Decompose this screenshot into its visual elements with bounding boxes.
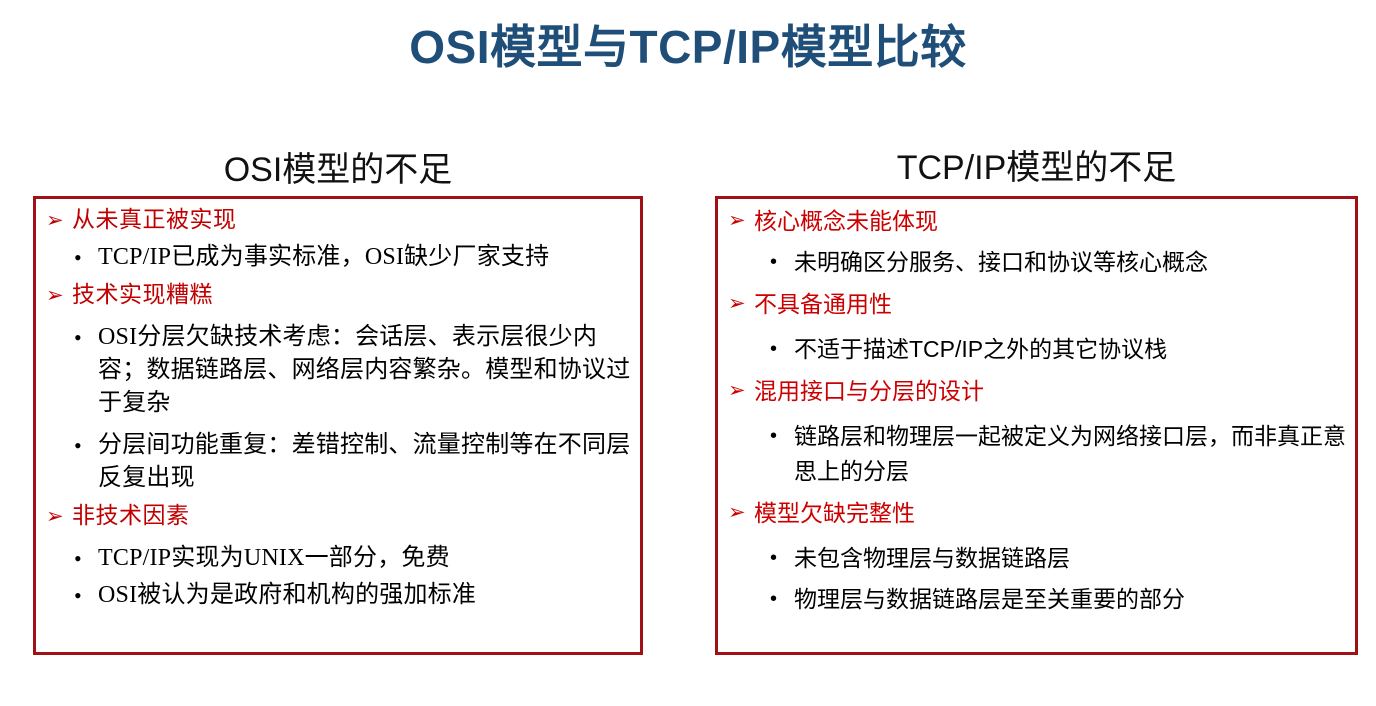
list-item-level2[interactable]: • TCP/IP实现为UNIX一部分，免费 <box>42 542 634 575</box>
list-item-text: 非技术因素 <box>72 499 634 533</box>
arrow-bullet-icon: ➢ <box>46 203 72 237</box>
spacer <box>42 420 634 429</box>
dot-bullet-icon: • <box>74 579 98 612</box>
list-item-text: 混用接口与分层的设计 <box>754 373 1349 409</box>
list-item-level2[interactable]: • 物理层与数据链路层是至关重要的部分 <box>724 582 1349 617</box>
list-item-level1[interactable]: ➢ 不具备通用性 <box>724 286 1349 322</box>
list-item-level1[interactable]: ➢ 模型欠缺完整性 <box>724 495 1349 531</box>
arrow-bullet-icon: ➢ <box>728 286 754 322</box>
bullet-list-osi: ➢ 从未真正被实现 • TCP/IP已成为事实标准，OSI缺少厂家支持 ➢ 技术… <box>36 199 640 652</box>
list-item-text: 模型欠缺完整性 <box>754 495 1349 531</box>
list-item-text: 不适于描述TCP/IP之外的其它协议栈 <box>794 332 1349 367</box>
list-item-text: 分层间功能重复：差错控制、流量控制等在不同层反复出现 <box>98 429 634 495</box>
list-item-level2[interactable]: • OSI被认为是政府和机构的强加标准 <box>42 579 634 612</box>
list-item-level1[interactable]: ➢ 非技术因素 <box>42 499 634 533</box>
arrow-bullet-icon: ➢ <box>728 373 754 409</box>
content-box-osi: ➢ 从未真正被实现 • TCP/IP已成为事实标准，OSI缺少厂家支持 ➢ 技术… <box>33 196 643 655</box>
list-item-level2[interactable]: • 未明确区分服务、接口和协议等核心概念 <box>724 245 1349 280</box>
list-item-level1[interactable]: ➢ 从未真正被实现 <box>42 203 634 237</box>
arrow-bullet-icon: ➢ <box>46 499 72 533</box>
spacer <box>42 312 634 321</box>
list-item-level2[interactable]: • OSI分层欠缺技术考虑：会话层、表示层很少内容；数据链路层、网络层内容繁杂。… <box>42 321 634 420</box>
list-item-text: 不具备通用性 <box>754 286 1349 322</box>
list-item-level2[interactable]: • TCP/IP已成为事实标准，OSI缺少厂家支持 <box>42 241 634 274</box>
spacer <box>724 322 1349 332</box>
list-item-text: 未明确区分服务、接口和协议等核心概念 <box>794 245 1349 280</box>
spacer <box>42 533 634 542</box>
dot-bullet-icon: • <box>74 429 98 462</box>
list-item-text: TCP/IP实现为UNIX一部分，免费 <box>98 542 634 575</box>
column-heading-tcpip: TCP/IP模型的不足 <box>715 146 1358 190</box>
list-item-text: OSI被认为是政府和机构的强加标准 <box>98 579 634 612</box>
list-item-level1[interactable]: ➢ 核心概念未能体现 <box>724 203 1349 239</box>
page-title: OSI模型与TCP/IP模型比较 <box>0 18 1376 76</box>
list-item-level1[interactable]: ➢ 混用接口与分层的设计 <box>724 373 1349 409</box>
content-box-tcpip: ➢ 核心概念未能体现 • 未明确区分服务、接口和协议等核心概念 ➢ 不具备通用性… <box>715 196 1358 655</box>
bullet-list-tcpip: ➢ 核心概念未能体现 • 未明确区分服务、接口和协议等核心概念 ➢ 不具备通用性… <box>718 199 1355 652</box>
list-item-text: 核心概念未能体现 <box>754 203 1349 239</box>
list-item-text: 物理层与数据链路层是至关重要的部分 <box>794 582 1349 617</box>
spacer <box>724 409 1349 419</box>
list-item-text: 链路层和物理层一起被定义为网络接口层，而非真正意思上的分层 <box>794 419 1349 489</box>
list-item-text: 未包含物理层与数据链路层 <box>794 541 1349 576</box>
list-item-text: OSI分层欠缺技术考虑：会话层、表示层很少内容；数据链路层、网络层内容繁杂。模型… <box>98 321 634 420</box>
dot-bullet-icon: • <box>770 541 794 576</box>
dot-bullet-icon: • <box>770 332 794 367</box>
list-item-level1[interactable]: ➢ 技术实现糟糕 <box>42 278 634 312</box>
column-heading-osi: OSI模型的不足 <box>33 148 643 192</box>
list-item-level2[interactable]: • 未包含物理层与数据链路层 <box>724 541 1349 576</box>
dot-bullet-icon: • <box>74 542 98 575</box>
dot-bullet-icon: • <box>770 582 794 617</box>
list-item-text: 技术实现糟糕 <box>72 278 634 312</box>
dot-bullet-icon: • <box>74 241 98 274</box>
list-item-level2[interactable]: • 不适于描述TCP/IP之外的其它协议栈 <box>724 332 1349 367</box>
list-item-level2[interactable]: • 分层间功能重复：差错控制、流量控制等在不同层反复出现 <box>42 429 634 495</box>
list-item-text: TCP/IP已成为事实标准，OSI缺少厂家支持 <box>98 241 634 274</box>
dot-bullet-icon: • <box>770 419 794 454</box>
dot-bullet-icon: • <box>770 245 794 280</box>
arrow-bullet-icon: ➢ <box>46 278 72 312</box>
arrow-bullet-icon: ➢ <box>728 203 754 239</box>
spacer <box>724 531 1349 541</box>
dot-bullet-icon: • <box>74 321 98 354</box>
list-item-text: 从未真正被实现 <box>72 203 634 237</box>
arrow-bullet-icon: ➢ <box>728 495 754 531</box>
list-item-level2[interactable]: • 链路层和物理层一起被定义为网络接口层，而非真正意思上的分层 <box>724 419 1349 489</box>
